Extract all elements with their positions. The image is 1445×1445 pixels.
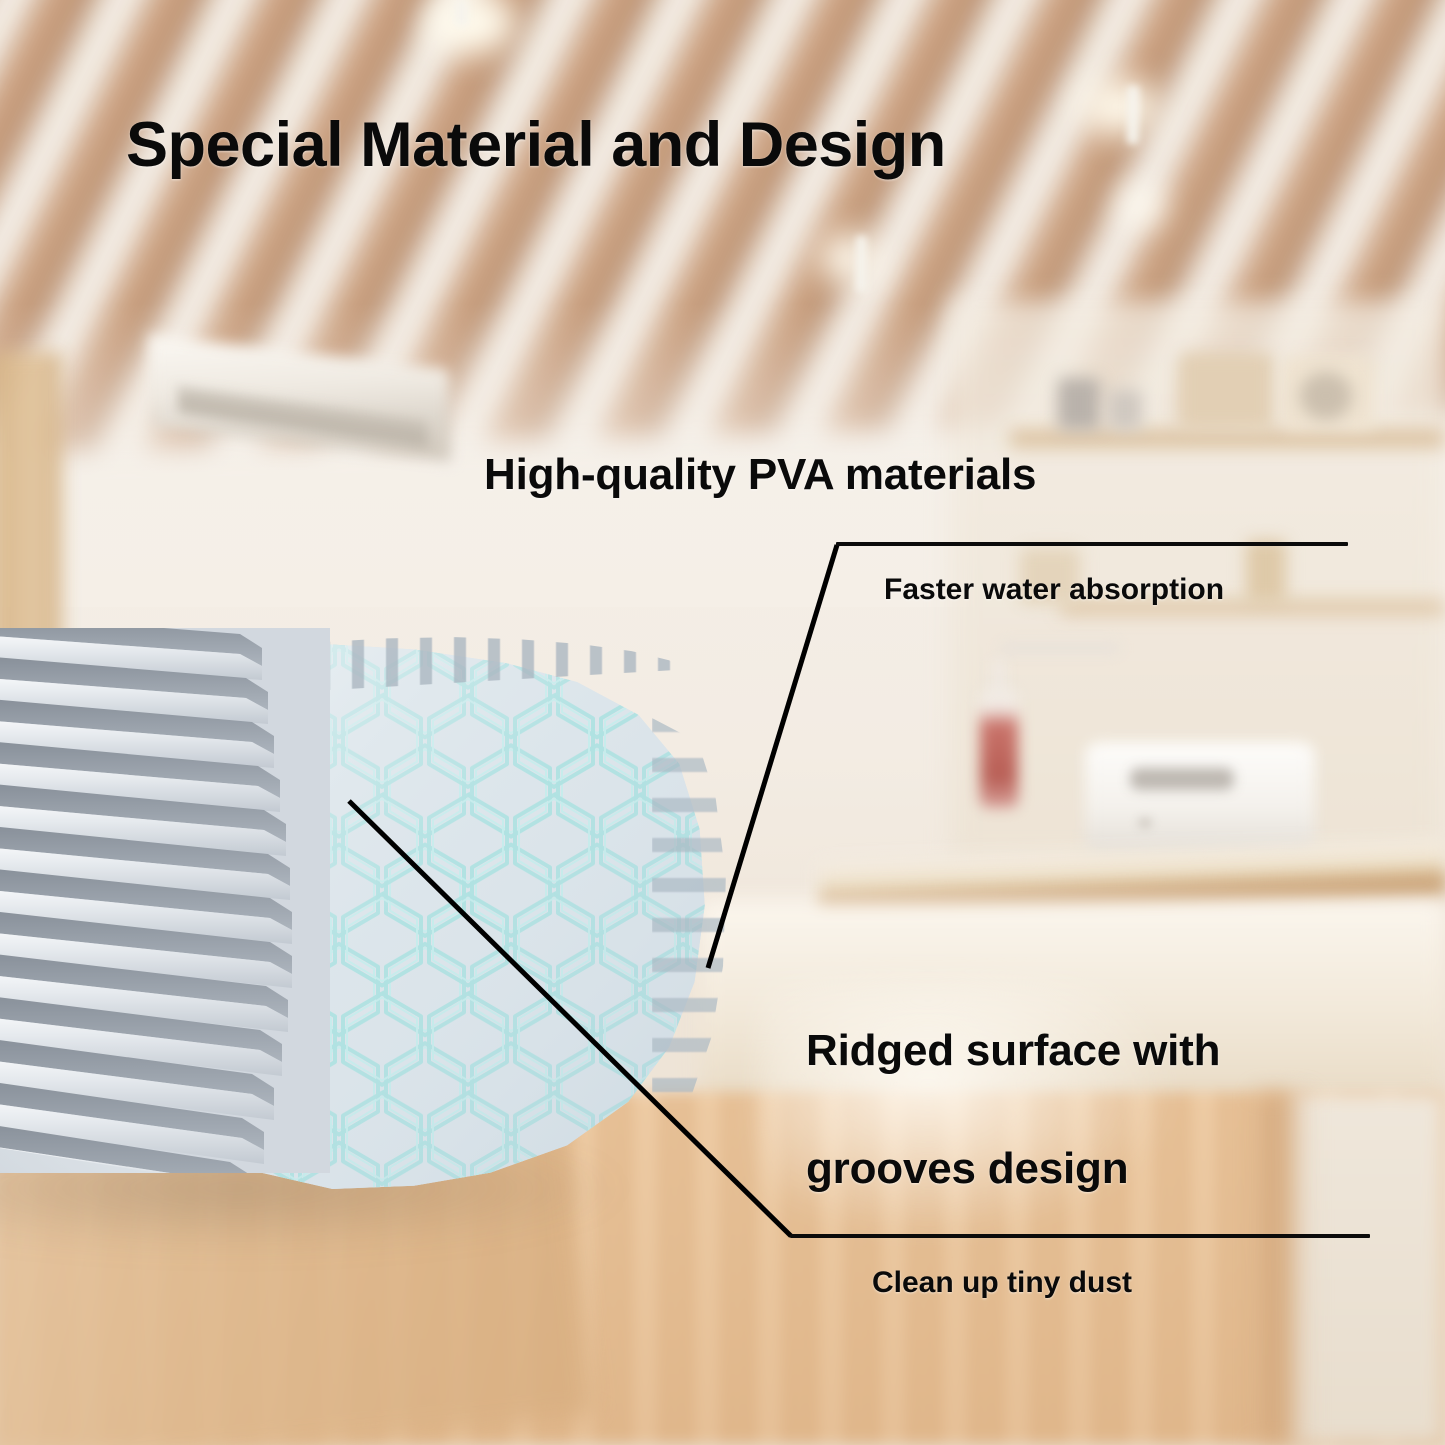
shelf-object <box>1108 390 1142 430</box>
right-serrated-edge <box>652 718 726 1118</box>
ceiling-light-icon <box>1080 78 1160 136</box>
appliance-slot <box>1130 768 1234 790</box>
pva-sponge-product <box>0 628 810 1218</box>
product-feature-banner: Special Material and Design High-quality… <box>0 0 1445 1445</box>
callout-pva-subtext: Faster water absorption <box>884 573 1224 607</box>
kitchen-appliance <box>1085 742 1315 854</box>
shelf-object <box>1058 378 1100 430</box>
soap-bottle <box>980 690 1018 808</box>
shelf-object <box>1178 352 1274 430</box>
callout-pva-rule <box>836 542 1348 546</box>
callout-ridged-heading-line1: Ridged surface with <box>806 1026 1220 1076</box>
pendant-rod <box>856 236 867 292</box>
callout-ridged-subtext: Clean up tiny dust <box>872 1266 1132 1300</box>
ridged-grooved-side <box>0 628 330 1173</box>
callout-pva-heading: High-quality PVA materials <box>484 450 1036 500</box>
light-sheen <box>760 980 1180 1240</box>
shelf <box>1010 430 1445 447</box>
appliance-dot <box>1138 818 1152 828</box>
faucet <box>1000 642 1120 654</box>
shelf-object <box>1300 372 1352 420</box>
pendant-rod <box>1127 86 1139 144</box>
right-wall-segment <box>1290 1092 1445 1445</box>
pendant-rod <box>455 0 468 26</box>
page-title: Special Material and Design <box>126 114 946 177</box>
grooves-pattern-icon <box>0 628 330 1173</box>
callout-ridged-heading-line2: grooves design <box>806 1144 1128 1194</box>
ceiling-light-icon <box>818 232 880 284</box>
ceiling-light-icon <box>1118 186 1164 226</box>
callout-ridged-rule <box>790 1234 1370 1238</box>
shelf-object <box>1246 540 1286 602</box>
wood-panel-edge <box>1258 1092 1312 1445</box>
